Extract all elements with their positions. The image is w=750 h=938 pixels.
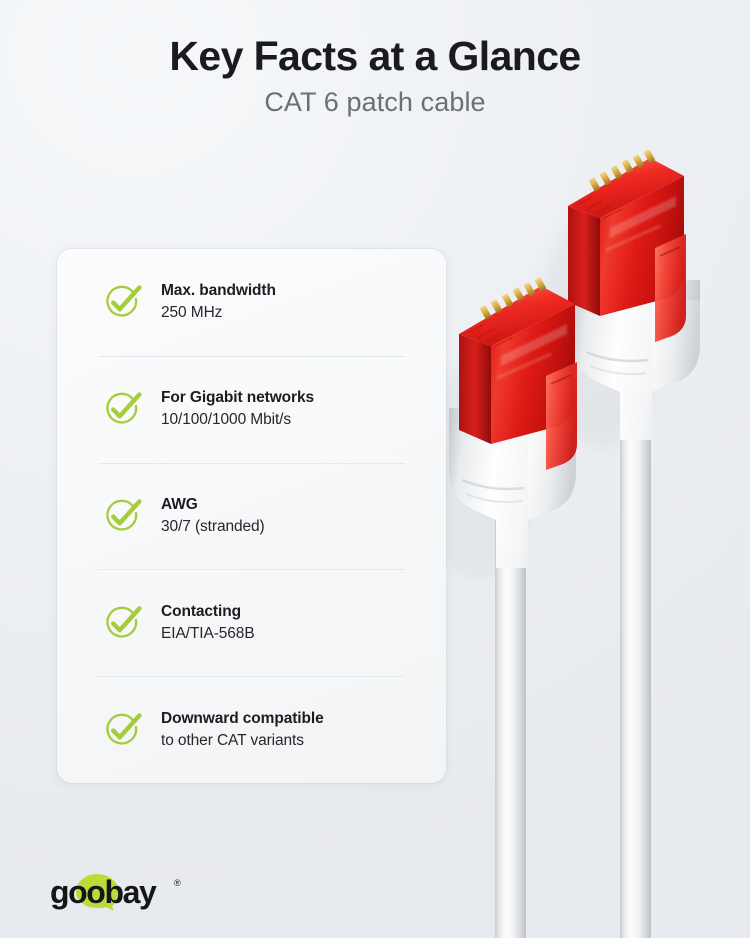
- infographic-root: Key Facts at a Glance CAT 6 patch cable: [0, 0, 750, 938]
- facts-list: Max. bandwidth 250 MHz For Gigabit netwo…: [57, 249, 446, 783]
- fact-title: Contacting: [161, 601, 255, 623]
- fact-value: EIA/TIA-568B: [161, 623, 255, 645]
- check-circle-icon: [101, 709, 143, 751]
- check-circle-icon: [101, 602, 143, 644]
- fact-title: For Gigabit networks: [161, 387, 314, 409]
- fact-value: 250 MHz: [161, 302, 276, 324]
- fact-value: to other CAT variants: [161, 730, 324, 752]
- check-circle-icon: [101, 281, 143, 323]
- check-circle-icon: [101, 388, 143, 430]
- fact-value: 30/7 (stranded): [161, 516, 265, 538]
- patch-cable-rear: [568, 149, 700, 938]
- list-item: AWG 30/7 (stranded): [57, 463, 446, 570]
- fact-title: Max. bandwidth: [161, 280, 276, 302]
- check-circle-icon: [101, 495, 143, 537]
- logo-trademark: ®: [174, 878, 181, 888]
- list-item: For Gigabit networks 10/100/1000 Mbit/s: [57, 356, 446, 463]
- fact-value: 10/100/1000 Mbit/s: [161, 409, 314, 431]
- list-item: Contacting EIA/TIA-568B: [57, 569, 446, 676]
- patch-cable-front: [449, 277, 577, 938]
- key-facts-card: Max. bandwidth 250 MHz For Gigabit netwo…: [57, 249, 446, 783]
- fact-title: AWG: [161, 494, 265, 516]
- goobay-logo: goobay ®: [50, 872, 190, 912]
- fact-title: Downward compatible: [161, 708, 324, 730]
- logo-wordmark: goobay: [50, 874, 157, 910]
- list-item: Max. bandwidth 250 MHz: [57, 249, 446, 356]
- list-item: Downward compatible to other CAT variant…: [57, 676, 446, 783]
